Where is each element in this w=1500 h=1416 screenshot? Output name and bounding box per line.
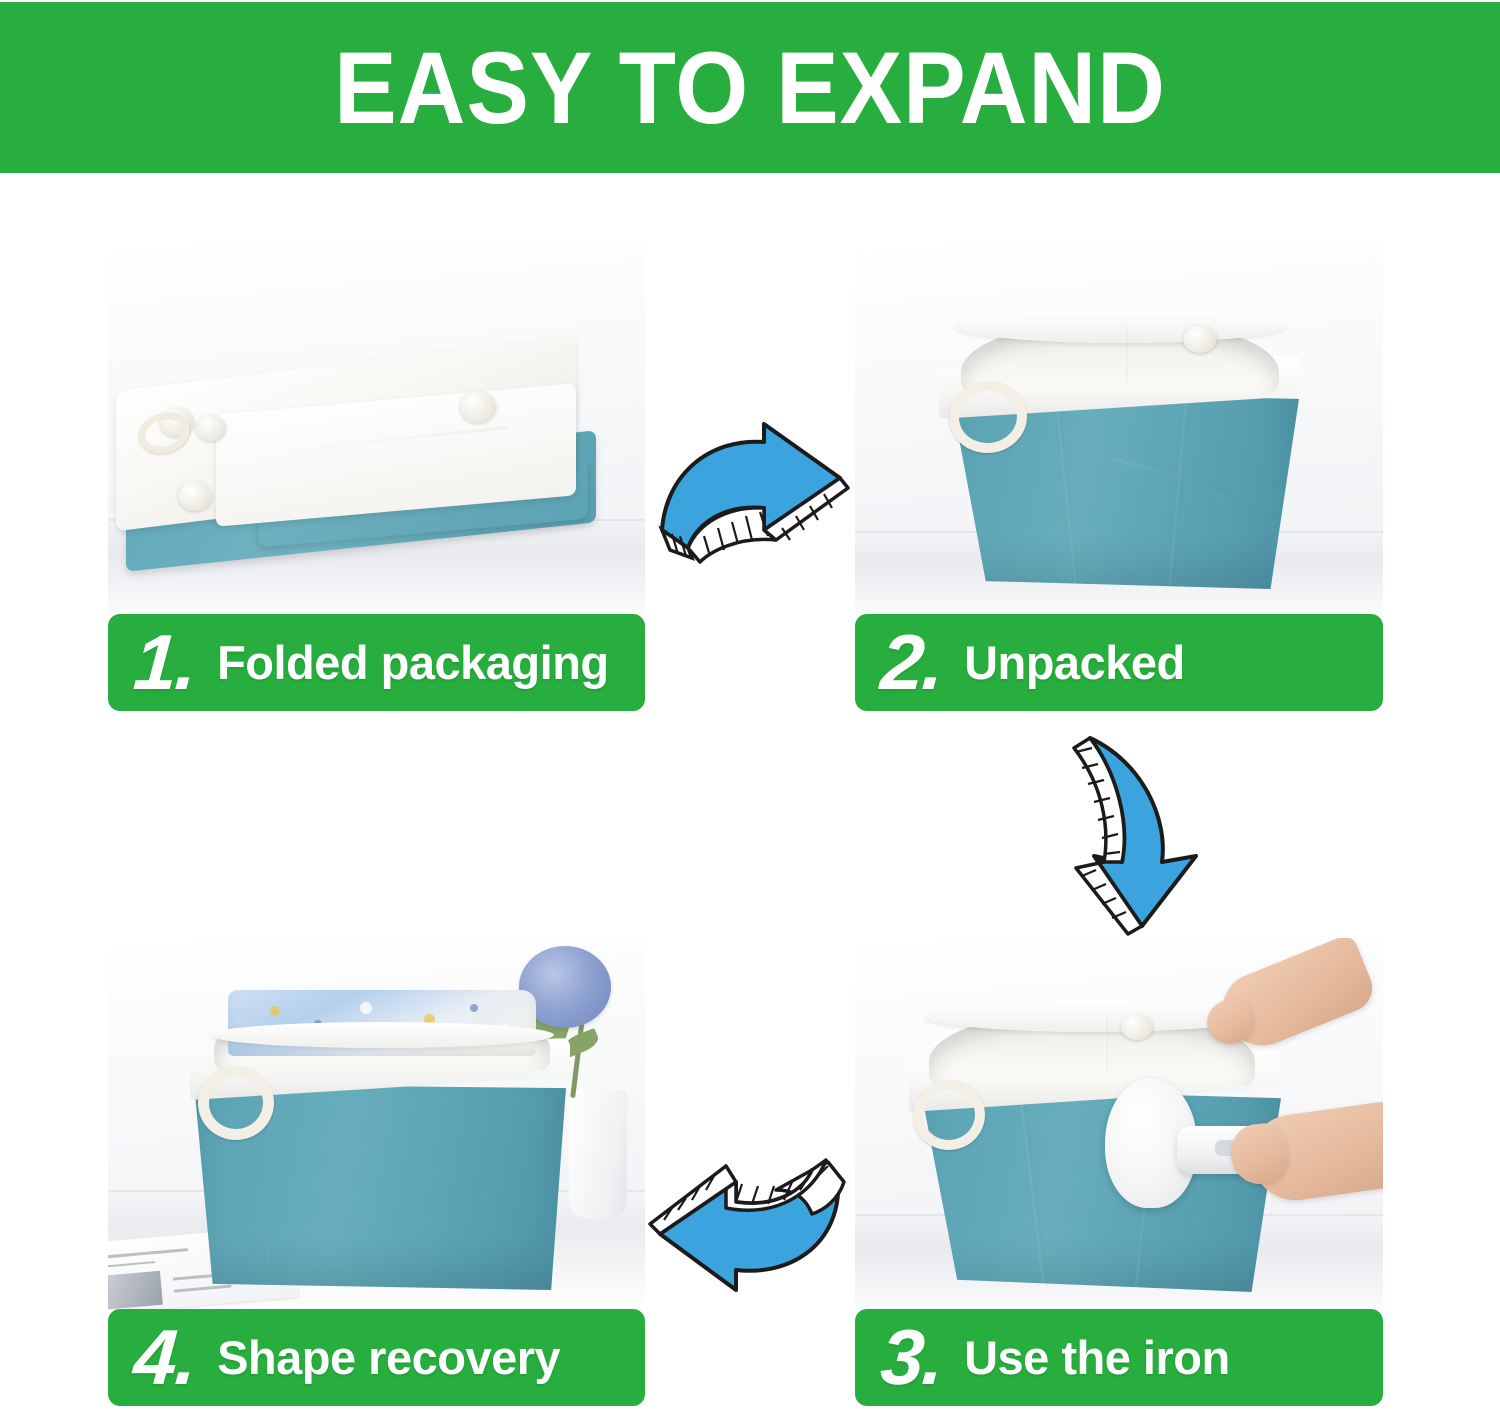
step-3-photo <box>855 938 1383 1310</box>
step-2-caption: 2. Unpacked <box>855 614 1383 711</box>
step-3-label: Use the iron <box>964 1334 1230 1381</box>
step-4-caption: 4. Shape recovery <box>108 1309 645 1406</box>
step-2-label: Unpacked <box>964 639 1185 686</box>
step-3-caption: 3. Use the iron <box>855 1309 1383 1406</box>
step-1-caption: 1. Folded packaging <box>108 614 645 711</box>
infographic-page: EASY TO EXPAND 1. <box>0 0 1500 1416</box>
arrow-left-icon <box>648 1142 848 1302</box>
header-banner: EASY TO EXPAND <box>0 2 1500 173</box>
step-2-number: 2. <box>879 631 945 695</box>
step-card-2: 2. Unpacked <box>855 243 1383 711</box>
step-3-number: 3. <box>879 1326 945 1390</box>
step-card-1: 1. Folded packaging <box>108 243 645 711</box>
step-4-photo <box>108 938 645 1310</box>
step-4-number: 4. <box>132 1326 198 1390</box>
step-card-4: 4. Shape recovery <box>108 938 645 1406</box>
step-1-photo <box>108 243 645 615</box>
step-1-number: 1. <box>132 631 198 695</box>
step-4-label: Shape recovery <box>217 1334 560 1381</box>
step-2-photo <box>855 243 1383 615</box>
step-card-3: 3. Use the iron <box>855 938 1383 1406</box>
arrow-right-icon <box>652 412 852 572</box>
arrow-down-icon <box>1046 726 1226 936</box>
step-1-label: Folded packaging <box>217 639 609 686</box>
page-title: EASY TO EXPAND <box>334 37 1166 139</box>
